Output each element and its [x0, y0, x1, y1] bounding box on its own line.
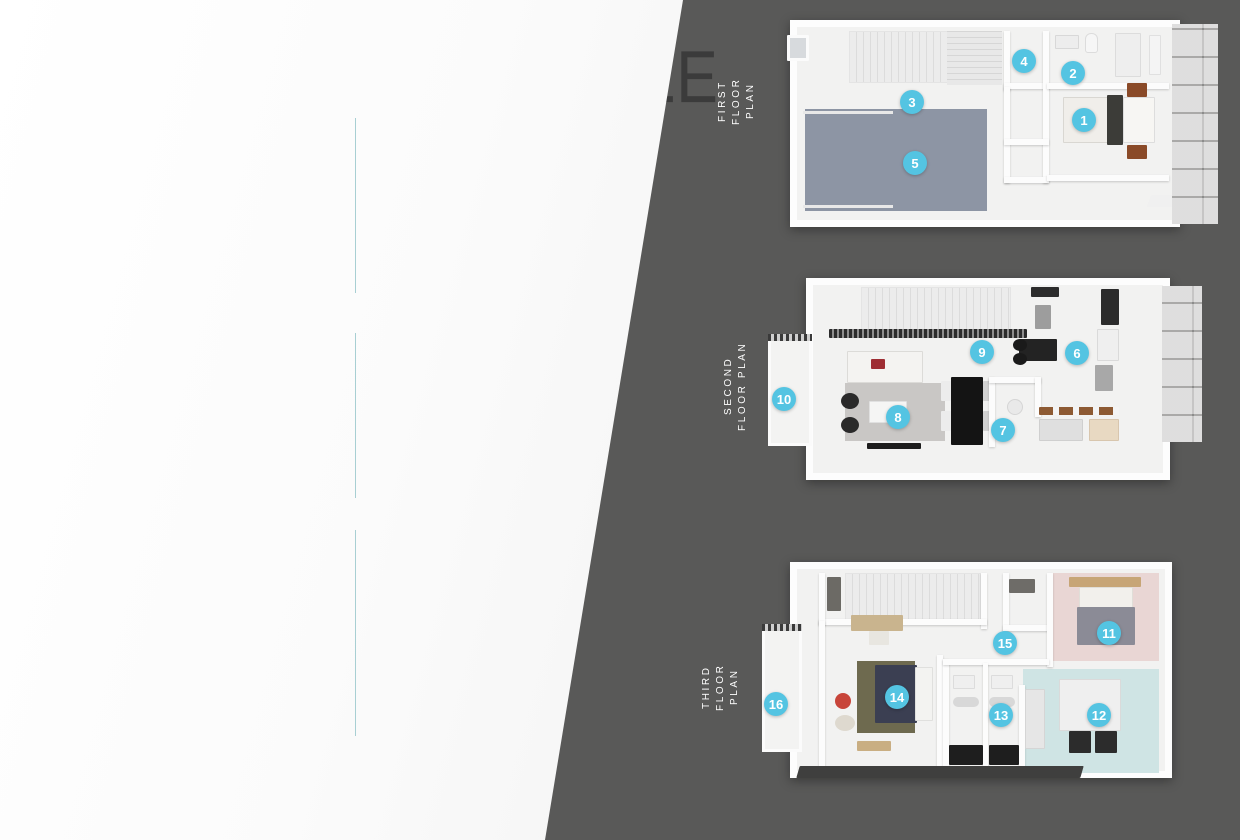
- fridge: [1101, 289, 1119, 325]
- balcony-rail-second: [768, 334, 812, 341]
- dining-chair-a: [941, 381, 951, 401]
- bed11-headboard: [1069, 577, 1141, 587]
- kitchen-island-a: [1035, 305, 1051, 329]
- nightstand-1a: [1127, 83, 1147, 97]
- side-label-second: SECOND FLOOR PLAN: [722, 338, 750, 434]
- bath3-shower-a: [949, 745, 983, 765]
- marker-16[interactable]: 16: [764, 692, 788, 716]
- marker-9[interactable]: 9: [970, 340, 994, 364]
- stairs-landing-first: [947, 31, 1002, 85]
- garage-floor: [805, 109, 987, 211]
- wall-corridor-left: [1004, 87, 1010, 183]
- accent-pouf: [835, 715, 855, 731]
- chair12-b: [1095, 731, 1117, 753]
- dining-table: [951, 377, 983, 445]
- sofa-cushion: [871, 359, 885, 369]
- bar-stool-a: [1013, 339, 1027, 351]
- marker-5[interactable]: 5: [903, 151, 927, 175]
- floorplan-second[interactable]: 6 7 8 9 10: [806, 278, 1170, 480]
- garage-door-rail-top: [803, 111, 893, 114]
- armchair-a: [841, 393, 859, 409]
- primary-bench: [869, 631, 889, 645]
- marker-8[interactable]: 8: [886, 405, 910, 429]
- pantry: [1095, 365, 1113, 391]
- armchair-b: [841, 417, 859, 433]
- marker-7[interactable]: 7: [991, 418, 1015, 442]
- floorplan-third[interactable]: 11 12 13 14 15 16: [790, 562, 1172, 778]
- wall-closet-bottom: [1004, 177, 1049, 183]
- vanity-first: [1055, 35, 1079, 49]
- wall-corridor-right: [1043, 31, 1049, 183]
- bar-stool-b: [1013, 353, 1027, 365]
- wall-bath3-top: [943, 659, 1049, 665]
- floorplan-second-shell: 6 7 8 9: [806, 278, 1170, 480]
- marker-1[interactable]: 1: [1072, 108, 1096, 132]
- stair-railing-second: [829, 329, 1027, 338]
- cooktop: [1031, 287, 1059, 297]
- marker-13[interactable]: 13: [989, 703, 1013, 727]
- bath3-linen-closet: [1025, 689, 1045, 749]
- column-divider-first: [355, 118, 356, 293]
- dining-chair-b: [941, 411, 951, 431]
- wall-right-separator: [1047, 573, 1053, 667]
- bath2-basin: [1007, 399, 1023, 415]
- column-divider-third: [355, 530, 356, 736]
- sink-unit: [1097, 329, 1119, 361]
- sofa: [847, 351, 923, 383]
- side-label-first: FIRST FLOOR PLAN: [716, 60, 758, 142]
- marker-11[interactable]: 11: [1097, 621, 1121, 645]
- wall-stair-left: [819, 573, 825, 625]
- primary-bed-sheets: [915, 667, 933, 721]
- marker-15[interactable]: 15: [993, 631, 1017, 655]
- wall-closet3-bottom: [1003, 625, 1051, 631]
- lower-cabinet-a: [1039, 419, 1083, 441]
- page-root: ROOM SCHEDULE Name *Area sqft FIRST FLOO…: [0, 0, 1240, 840]
- column-divider-second: [355, 333, 356, 498]
- tv-bench: [867, 443, 921, 449]
- left-white-panel: [0, 0, 700, 840]
- marker-3[interactable]: 3: [900, 90, 924, 114]
- nightstand-1b: [1127, 145, 1147, 159]
- closet-shelf-third: [1009, 579, 1035, 593]
- wall-closet-split: [1004, 139, 1049, 145]
- bed11-pillows: [1079, 587, 1133, 609]
- marker-4[interactable]: 4: [1012, 49, 1036, 73]
- bath3-mirror-a: [953, 675, 975, 689]
- wall-bath2-top: [989, 377, 1041, 383]
- toilet-first: [1085, 33, 1098, 53]
- wall-stair-bottom: [819, 619, 987, 625]
- shower-first: [1115, 33, 1141, 77]
- bed-right-1: [1123, 97, 1155, 143]
- floorplan-third-plinth: [796, 766, 1083, 778]
- marker-2[interactable]: 2: [1061, 61, 1085, 85]
- floorplan-first[interactable]: 1 2 3 4 5: [790, 20, 1180, 227]
- stairs-second: [861, 287, 1011, 333]
- marker-10[interactable]: 10: [772, 387, 796, 411]
- balcony-third: [762, 628, 802, 752]
- accent-ball: [835, 693, 851, 709]
- window-first: [787, 35, 809, 61]
- bath3-mirror-b: [991, 675, 1013, 689]
- balcony-rail-third: [762, 624, 802, 631]
- bath3-shower-b: [989, 745, 1019, 765]
- patio-tiles-first: [1172, 24, 1218, 224]
- bath3-tub-a: [953, 697, 979, 707]
- side-label-third: THIRD FLOOR PLAN: [700, 644, 742, 730]
- lower-cabinet-b: [1089, 419, 1119, 441]
- primary-console: [857, 741, 891, 751]
- wall-bath-bottom: [1047, 83, 1169, 89]
- chair12-a: [1069, 731, 1091, 753]
- floorplan-first-shell: 1 2 3 4 5: [790, 20, 1180, 227]
- wall-storage-left: [1004, 31, 1010, 91]
- bed-throw-1: [1107, 95, 1123, 145]
- wall-bedroom-bottom: [1047, 175, 1169, 181]
- wall-bath3-mid: [983, 663, 988, 767]
- hall-closet-third: [827, 577, 841, 611]
- marker-12[interactable]: 12: [1087, 703, 1111, 727]
- floorplan-third-shell: 11 12 13 14 15: [790, 562, 1172, 778]
- patio-tiles-second: [1162, 286, 1202, 442]
- marker-14[interactable]: 14: [885, 685, 909, 709]
- marker-6[interactable]: 6: [1065, 341, 1089, 365]
- garage-door-rail-bottom: [803, 205, 893, 208]
- wall-primary-left: [819, 621, 825, 773]
- bath-closet-first: [1149, 35, 1161, 75]
- step-treads: [1039, 407, 1119, 415]
- primary-headboard: [851, 615, 903, 631]
